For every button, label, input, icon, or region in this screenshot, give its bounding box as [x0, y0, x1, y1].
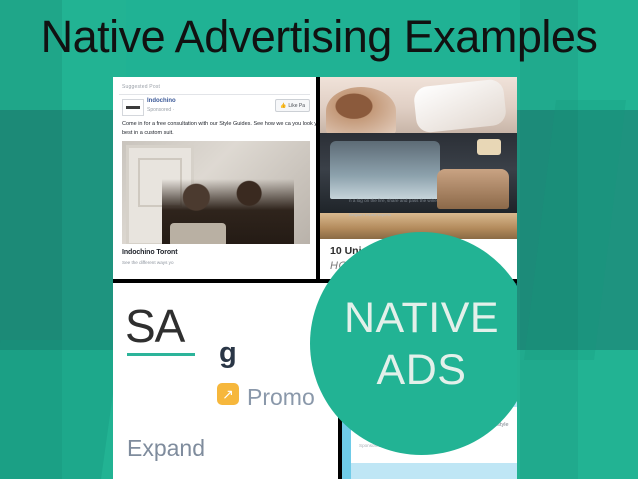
facebook-post-body: Come in for a free consultation with our…: [122, 120, 316, 138]
facebook-caption-title: Indochino Toront: [122, 249, 312, 256]
promoted-arrow-icon: ↗: [217, 383, 239, 405]
photo-seating-detail: [437, 169, 509, 209]
background-accent-shape-left: [0, 340, 121, 479]
article-snippet-text: n a log on the fire, share and pass the …: [349, 197, 445, 204]
photo-shirt-detail: [170, 223, 226, 244]
avatar-logo-mark: [126, 106, 140, 109]
publisher-logo: SA: [125, 303, 184, 349]
publisher-logo-underline: [127, 353, 195, 356]
facebook-post: Suggested Post Indochino Sponsored · 👍 L…: [113, 77, 316, 279]
promoted-label: Promo: [247, 384, 315, 411]
expand-button[interactable]: Expand: [127, 435, 205, 462]
arrow-up-right-glyph: ↗: [222, 387, 234, 401]
photo-people-detail: [162, 179, 294, 244]
badge-line-1: NATIVE: [344, 292, 499, 344]
facebook-page-name[interactable]: Indochino: [147, 98, 176, 104]
like-page-label: Like Pa: [288, 103, 305, 109]
hgtv-photo-bedroom: [320, 77, 517, 133]
facebook-sponsored-label: Sponsored ·: [147, 107, 174, 113]
article-snippet: n a log on the fire, share and pass the …: [349, 197, 445, 218]
facebook-page-avatar: [122, 99, 144, 116]
ad-card-facebook-indochino[interactable]: Suggested Post Indochino Sponsored · 👍 L…: [113, 77, 316, 279]
slide: Native Advertising Examples Suggested Po…: [0, 0, 638, 479]
facebook-caption-subtitle: See the different ways yo: [122, 259, 312, 266]
photo-pillow-detail: [413, 78, 507, 133]
badge-line-2: ADS: [377, 344, 467, 396]
promoted-content-panel: SA g ↗ Promo Expand: [113, 283, 338, 479]
article-snippet-credit: Belgian's music experts: [349, 211, 445, 218]
ad-examples-collage: Suggested Post Indochino Sponsored · 👍 L…: [113, 77, 517, 479]
native-ads-badge: NATIVE ADS: [310, 232, 517, 455]
headline-fragment: g: [219, 339, 237, 368]
facebook-post-photo[interactable]: [122, 141, 310, 244]
facebook-link-caption[interactable]: Indochino Toront See the different ways …: [122, 249, 312, 266]
ford-bottom-band: [351, 463, 517, 479]
thumbs-up-icon: 👍: [280, 103, 286, 109]
facebook-suggested-post-label: Suggested Post: [122, 84, 160, 90]
facebook-divider: [119, 94, 310, 95]
photo-window-detail: [330, 141, 440, 199]
page-title: Native Advertising Examples: [0, 8, 638, 66]
photo-person-detail: [326, 87, 396, 133]
ad-card-promoted-content[interactable]: SA g ↗ Promo Expand: [113, 283, 338, 479]
facebook-like-page-button[interactable]: 👍 Like Pa: [275, 99, 310, 112]
photo-lamp-detail: [477, 139, 501, 155]
